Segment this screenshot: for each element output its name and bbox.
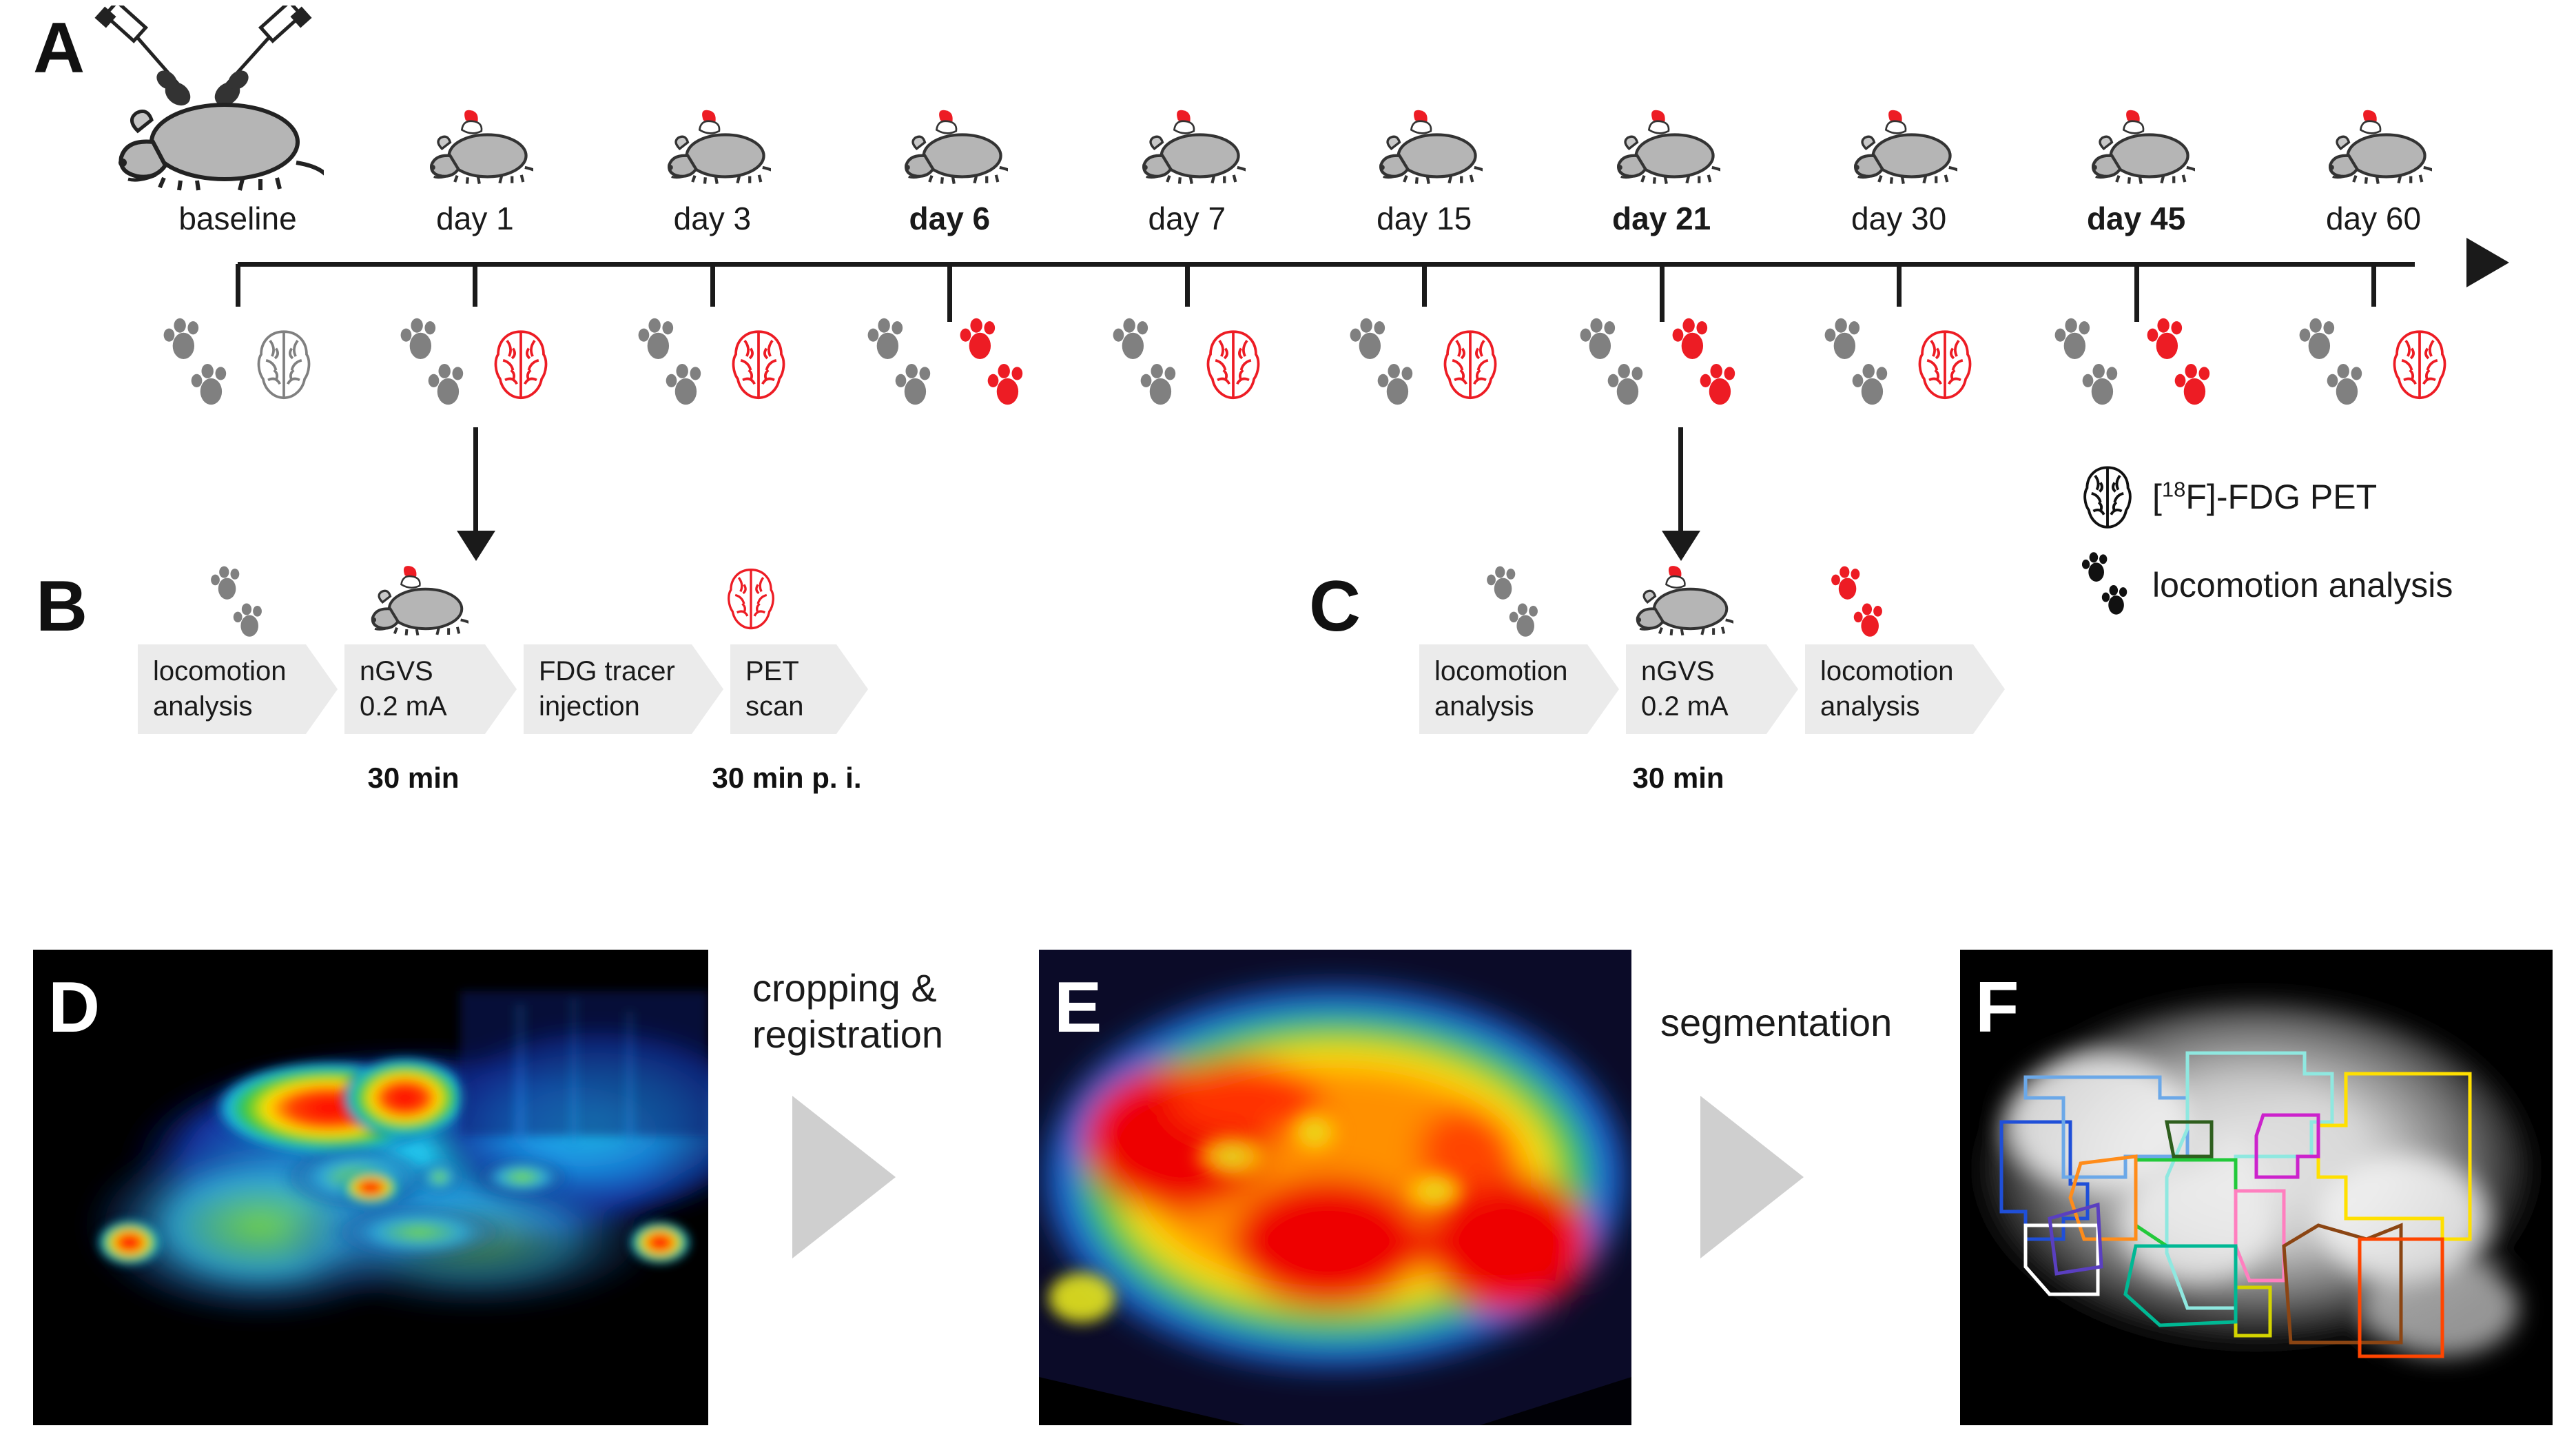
panel-b-step-1[interactable]: nGVS 0.2 mA [344, 644, 517, 734]
red-brain-icon [729, 327, 788, 402]
timeline-mouse-day-7 [1129, 102, 1246, 186]
red-brain-icon [725, 565, 777, 632]
panel-c-icon-0 [1485, 565, 1546, 642]
legend-item-locomotion: locomotion analysis [2081, 551, 2453, 619]
black-brain-icon [2081, 463, 2134, 531]
black-paws-icon [2081, 551, 2134, 619]
gray-paws-icon [1485, 565, 1546, 642]
panel-e-image: E [1039, 950, 1631, 1425]
timeline-icons-day-21 [1578, 317, 1745, 411]
arrow-to-panel-b-head [457, 531, 495, 561]
gray-paws-icon [209, 565, 270, 642]
red-brain-icon [1441, 327, 1500, 402]
timeline-label-day-7: day 7 [1148, 200, 1226, 237]
timeline-mouse-day-60 [2315, 102, 2432, 186]
mouse-with-two-syringes-icon [90, 6, 324, 192]
timeline-mouse-day-3 [654, 102, 771, 186]
panel-c-step-1[interactable]: nGVS 0.2 mA [1626, 644, 1798, 734]
timeline-mouse-day-21 [1603, 102, 1720, 186]
gray-brain-icon [254, 327, 313, 402]
red-paws-icon [1671, 317, 1745, 411]
panel-b-caption-0: 30 min [367, 762, 459, 795]
panel-e-letter: E [1054, 972, 1102, 1043]
timeline-tick-6 [1660, 264, 1665, 322]
gray-paws-icon [2053, 317, 2127, 411]
mouse-red-head-icon [1129, 102, 1246, 186]
timeline-tick-5 [1422, 264, 1427, 307]
arrow-to-panel-c-shaft [1678, 427, 1683, 534]
panel-d-image: D [33, 950, 708, 1425]
timeline-tick-2 [710, 264, 715, 307]
gray-paws-icon [1823, 317, 1897, 411]
mouse-red-head-icon [891, 102, 1008, 186]
mouse-red-head-icon [654, 102, 771, 186]
timeline-icons-day-1 [399, 317, 550, 411]
red-brain-icon [1915, 327, 1975, 402]
timeline-label-day-6: day 6 [909, 200, 991, 237]
timeline-mouse-day-6 [891, 102, 1008, 186]
panel-b-icon-1 [358, 558, 468, 637]
timeline-label-day-45: day 45 [2087, 200, 2185, 237]
gray-paws-icon [866, 317, 940, 411]
timeline-tick-1 [473, 264, 477, 307]
timeline-mouse-day-1 [416, 102, 533, 186]
timeline-label-day-21: day 21 [1612, 200, 1711, 237]
timeline-label-baseline: baseline [178, 200, 296, 237]
transition-label-segmentation: segmentation [1660, 999, 1936, 1045]
mouse-red-head-icon [358, 558, 468, 637]
timeline-icons-day-3 [637, 317, 788, 411]
timeline-tick-9 [2371, 264, 2376, 307]
red-brain-icon [2390, 327, 2449, 402]
timeline-mouse-day-30 [1840, 102, 1957, 186]
transition-arrow-cropping-icon [792, 1096, 896, 1258]
timeline-label-day-3: day 3 [674, 200, 752, 237]
timeline-icons-baseline [162, 317, 313, 411]
panel-b-flow: locomotion analysisnGVS 0.2 mAFDG tracer… [138, 644, 868, 734]
mouse-red-head-icon [2315, 102, 2432, 186]
panel-b-icon-2 [725, 565, 777, 632]
panel-f-image: F [1960, 950, 2553, 1425]
timeline-tick-3 [947, 264, 952, 322]
mouse-red-head-icon [2078, 102, 2195, 186]
red-paws-icon [1830, 565, 1890, 642]
mouse-red-head-icon [1603, 102, 1720, 186]
gray-paws-icon [162, 317, 236, 411]
timeline-icons-day-7 [1111, 317, 1263, 411]
panel-b-caption-1: 30 min p. i. [712, 762, 861, 795]
timeline-mouse-day-45 [2078, 102, 2195, 186]
transition-arrow-segmentation-icon [1700, 1096, 1804, 1258]
panel-f-letter: F [1975, 972, 2019, 1043]
legend-item-pet: [18F]-FDG PET [2081, 463, 2377, 531]
step-label: nGVS 0.2 mA [360, 654, 447, 724]
panel-b-letter: B [36, 571, 87, 642]
timeline-tick-8 [2134, 264, 2139, 322]
step-label: PET scan [745, 654, 804, 724]
timeline-icons-day-6 [866, 317, 1033, 411]
mouse-red-head-icon [1840, 102, 1957, 186]
timeline-label-day-60: day 60 [2326, 200, 2421, 237]
gray-paws-icon [1578, 317, 1653, 411]
panel-c-flow: locomotion analysisnGVS 0.2 mAlocomotion… [1419, 644, 2005, 734]
timeline-tick-4 [1185, 264, 1190, 307]
panel-b-step-2[interactable]: FDG tracer injection [524, 644, 723, 734]
panel-c-caption-0: 30 min [1632, 762, 1724, 795]
gray-paws-icon [1348, 317, 1423, 411]
timeline-icons-day-30 [1823, 317, 1975, 411]
legend-label-locomotion: locomotion analysis [2152, 565, 2453, 605]
timeline-icons-day-15 [1348, 317, 1500, 411]
panel-b-step-0[interactable]: locomotion analysis [138, 644, 338, 734]
mouse-red-head-icon [1623, 558, 1733, 637]
panel-c-icon-2 [1830, 565, 1890, 642]
red-brain-icon [1204, 327, 1263, 402]
panel-d-letter: D [48, 972, 100, 1043]
red-brain-icon [491, 327, 550, 402]
mouse-red-head-icon [416, 102, 533, 186]
gray-paws-icon [399, 317, 473, 411]
step-label: locomotion analysis [153, 654, 286, 724]
step-label: FDG tracer injection [539, 654, 675, 724]
timeline-label-day-30: day 30 [1851, 200, 1946, 237]
panel-c-step-0[interactable]: locomotion analysis [1419, 644, 1619, 734]
panel-b-step-3[interactable]: PET scan [730, 644, 868, 734]
red-paws-icon [958, 317, 1033, 411]
step-label: locomotion analysis [1434, 654, 1567, 724]
panel-b-icon-0 [209, 565, 270, 642]
timeline-label-day-1: day 1 [436, 200, 514, 237]
timeline-icons-day-45 [2053, 317, 2220, 411]
panel-c-letter: C [1309, 571, 1361, 642]
legend-label-pet: [18F]-FDG PET [2152, 477, 2377, 517]
panel-c-step-2[interactable]: locomotion analysis [1805, 644, 2005, 734]
panel-a-letter: A [33, 12, 85, 84]
gray-paws-icon [637, 317, 711, 411]
transition-label-cropping: cropping & registration [752, 965, 980, 1057]
panel-c-icon-1 [1623, 558, 1733, 637]
timeline-label-day-15: day 15 [1377, 200, 1472, 237]
gray-paws-icon [2298, 317, 2372, 411]
step-label: nGVS 0.2 mA [1641, 654, 1729, 724]
gray-paws-icon [1111, 317, 1186, 411]
timeline-icons-day-60 [2298, 317, 2449, 411]
timeline-mouse-day-15 [1366, 102, 1483, 186]
timeline-arrowhead-icon [2466, 238, 2509, 287]
red-paws-icon [2145, 317, 2220, 411]
mouse-red-head-icon [1366, 102, 1483, 186]
timeline-axis [238, 262, 2415, 267]
timeline-tick-7 [1897, 264, 1902, 307]
step-label: locomotion analysis [1820, 654, 1953, 724]
arrow-to-panel-c-head [1662, 531, 1700, 561]
timeline-tick-0 [236, 264, 240, 307]
arrow-to-panel-b-shaft [473, 427, 478, 534]
